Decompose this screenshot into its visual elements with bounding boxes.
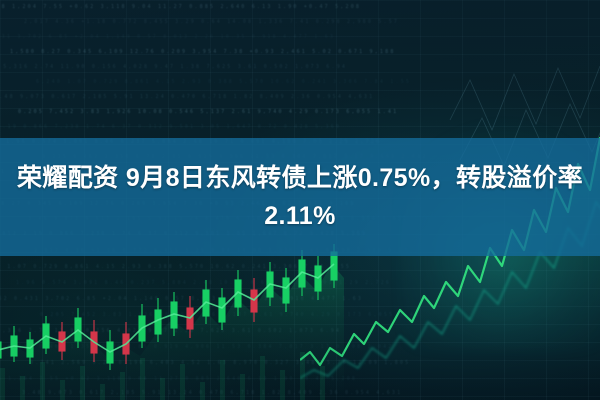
thumbnail-canvas: 0.18 1,204 7.55 +0.62 3,118 9.04 11.27 0… <box>0 0 600 400</box>
headline-band: 荣耀配资 9月8日东风转债上涨0.75%，转股溢价率 2.11% <box>0 138 600 256</box>
headline-line-2: 2.11% <box>264 197 336 235</box>
headline-line-1: 荣耀配资 9月8日东风转债上涨0.75%，转股溢价率 <box>17 159 583 197</box>
